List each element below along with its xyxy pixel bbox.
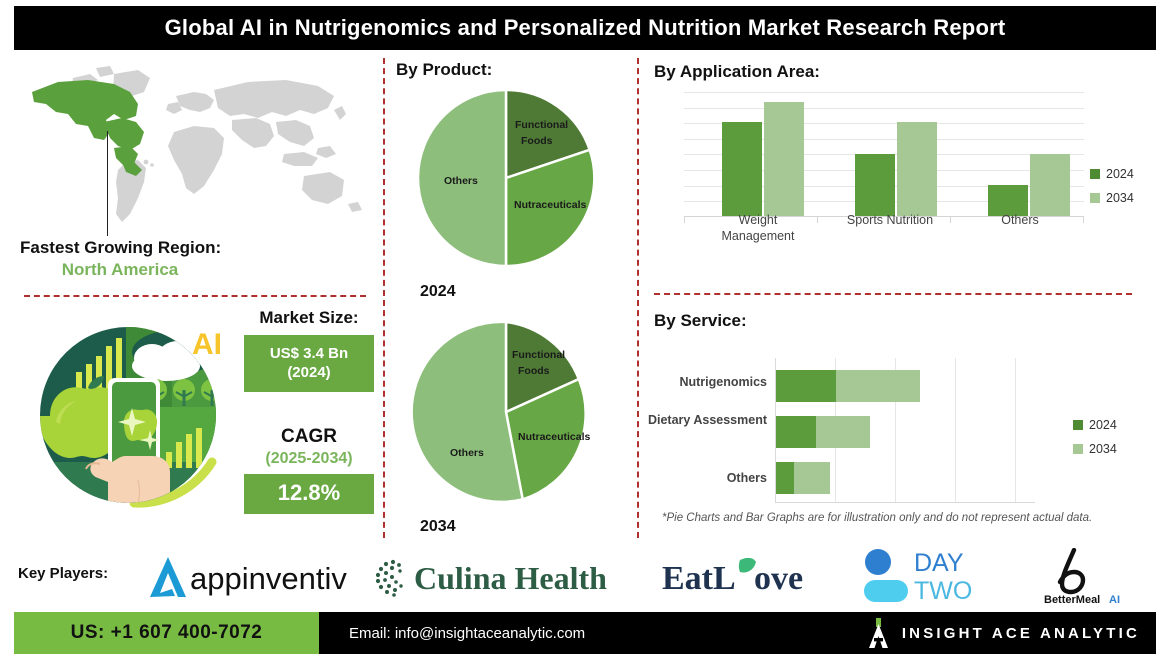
divider-horizontal-left (24, 295, 366, 297)
app-category-sports-nutrition: Sports Nutrition (830, 213, 950, 229)
footer-email[interactable]: Email: info@insightaceanalytic.com (349, 625, 585, 642)
bar-others-2024 (776, 462, 794, 494)
logo-eatlove: EatL ove (662, 556, 830, 598)
fastest-growing-region: Fastest Growing Region: North America (20, 238, 350, 280)
cagr-value-box: 12.8% (244, 474, 374, 514)
bar-group-others (988, 154, 1070, 216)
appinventiv-mark (150, 557, 186, 597)
pie-year-2024: 2024 (420, 283, 456, 301)
app-category-weight-management: Weight Management (708, 213, 808, 244)
legend-label-2034: 2034 (1106, 191, 1134, 205)
pie-label-functional-foods-line1: Functional (512, 349, 565, 361)
bar-dietary-assessment-2024 (776, 416, 816, 448)
app-category-others: Others (970, 213, 1070, 229)
svg-text:ove: ove (754, 560, 803, 597)
bar-sports-nutrition-2024 (855, 154, 895, 216)
bar-row-nutrigenomics (776, 370, 920, 402)
legend-label-2024: 2024 (1089, 418, 1117, 432)
bar-row-dietary-assessment (776, 416, 870, 448)
bar-sports-nutrition-2034 (897, 122, 937, 216)
legend-swatch-2034 (1073, 444, 1083, 454)
legend-item-2034: 2034 (1073, 442, 1117, 456)
pie-label-nutraceuticals: Nutraceuticals (514, 199, 587, 211)
pie-chart-2024: Functional Foods Nutraceuticals Others (402, 88, 610, 268)
divider-vertical-right (637, 58, 639, 538)
pie-year-2034: 2034 (420, 518, 456, 536)
pie-chart-2034: Functional Foods Nutraceuticals Others (402, 318, 610, 506)
daytwo-pill (864, 580, 908, 602)
market-size-label: Market Size: (244, 308, 374, 328)
bettermeal-b-mark (1060, 550, 1083, 592)
svg-text:AI: AI (1109, 594, 1120, 606)
bar-others-2034 (794, 462, 830, 494)
svg-text:Culina Health: Culina Health (414, 560, 607, 596)
logo-daytwo: DAY TWO (862, 548, 1002, 606)
ai-nutrition-illustration: AI (16, 312, 244, 522)
key-players-label: Key Players: (18, 565, 108, 582)
north-america-highlight (32, 80, 144, 176)
service-category-label: Others (727, 471, 767, 485)
footer-brand: INSIGHT ACE ANALYTIC (868, 618, 1140, 648)
fastest-region-label: Fastest Growing Region: (20, 238, 350, 258)
legend-item-2024: 2024 (1090, 167, 1134, 181)
legend-item-2034: 2034 (1090, 191, 1134, 205)
app-category-label: Sports Nutrition (847, 213, 933, 227)
footer-brand-name: INSIGHT ACE ANALYTIC (902, 625, 1140, 642)
pie-label-functional-foods-line2: Foods (518, 365, 550, 377)
culina-dots-mark (376, 560, 403, 597)
pie-label-others: Others (450, 447, 484, 459)
service-category-nutrigenomics: Nutrigenomics (645, 375, 767, 391)
pie-slice-others (412, 322, 523, 502)
fastest-region-value: North America (20, 260, 220, 280)
service-category-others: Others (645, 471, 767, 487)
bar-weight-management-2034 (764, 102, 804, 216)
service-category-label: Nutrigenomics (679, 375, 767, 389)
bar-group-weight-management (722, 102, 804, 216)
footer-bar: US: +1 607 400-7072 Email: info@insighta… (14, 612, 1156, 654)
insight-ace-logo-icon (868, 618, 890, 648)
svg-text:BetterMeal: BetterMeal (1044, 594, 1100, 606)
logo-culina-health: Culina Health (370, 556, 616, 598)
bar-dietary-assessment-2034 (816, 416, 870, 448)
world-map (18, 62, 368, 237)
bar-nutrigenomics-2024 (776, 370, 836, 402)
pie-label-others: Others (444, 175, 478, 187)
bar-nutrigenomics-2034 (836, 370, 920, 402)
svg-text:appinventiv: appinventiv (190, 561, 347, 596)
infographic-page: Global AI in Nutrigenomics and Personali… (0, 0, 1170, 658)
bar-weight-management-2024 (722, 122, 762, 216)
bar-others-2034 (1030, 154, 1070, 216)
service-bar-chart (775, 358, 1035, 503)
bar-row-others (776, 462, 830, 494)
divider-vertical-left (383, 58, 385, 538)
service-category-label: Dietary Assessment (648, 413, 767, 427)
ai-text: AI (192, 328, 222, 361)
logo-bettermeal-ai: BetterMeal AI (1030, 548, 1148, 606)
cagr-label: CAGR (244, 426, 374, 448)
divider-horizontal-right (654, 293, 1132, 295)
service-chart-legend: 2024 2034 (1073, 418, 1117, 466)
footer-phone[interactable]: US: +1 607 400-7072 (14, 612, 319, 654)
market-size-value-box: US$ 3.4 Bn (2024) (244, 335, 374, 392)
svg-text:DAY: DAY (914, 549, 964, 577)
legend-swatch-2024 (1073, 420, 1083, 430)
application-area-bar-chart (684, 92, 1084, 217)
pie-label-functional-foods-line2: Foods (521, 135, 553, 147)
pie-label-functional-foods-line1: Functional (515, 119, 568, 131)
daytwo-circle (865, 549, 891, 575)
market-size-value: US$ 3.4 Bn (248, 344, 370, 363)
svg-text:TWO: TWO (914, 577, 972, 605)
legend-swatch-2034 (1090, 193, 1100, 203)
cloud-white (132, 341, 200, 381)
chart-disclaimer-note: *Pie Charts and Bar Graphs are for illus… (662, 512, 1092, 524)
market-size-year: (2024) (248, 363, 370, 382)
by-service-heading: By Service: (654, 311, 747, 331)
map-pointer-line (107, 131, 108, 236)
page-title: Global AI in Nutrigenomics and Personali… (165, 15, 1006, 41)
cagr-value: 12.8% (278, 480, 340, 505)
market-size-block: Market Size: US$ 3.4 Bn (2024) CAGR (202… (244, 308, 374, 514)
logo-appinventiv: appinventiv (142, 553, 352, 599)
bar-others-2024 (988, 185, 1028, 216)
by-application-area-heading: By Application Area: (654, 62, 820, 82)
footer-right: Email: info@insightaceanalytic.com INSIG… (319, 612, 1156, 654)
svg-text:EatL: EatL (662, 560, 736, 597)
app-category-label: Weight Management (722, 213, 795, 243)
report-title-bar: Global AI in Nutrigenomics and Personali… (14, 6, 1156, 50)
pie-label-nutraceuticals: Nutraceuticals (518, 431, 591, 443)
service-category-dietary-assessment: Dietary Assessment (645, 413, 767, 429)
application-chart-legend: 2024 2034 (1090, 167, 1134, 215)
legend-label-2034: 2034 (1089, 442, 1117, 456)
cagr-years: (2025-2034) (244, 450, 374, 468)
legend-label-2024: 2024 (1106, 167, 1134, 181)
legend-item-2024: 2024 (1073, 418, 1117, 432)
app-category-label: Others (1001, 213, 1039, 227)
by-product-heading: By Product: (396, 60, 492, 80)
legend-swatch-2024 (1090, 169, 1100, 179)
bar-group-sports-nutrition (855, 122, 937, 216)
